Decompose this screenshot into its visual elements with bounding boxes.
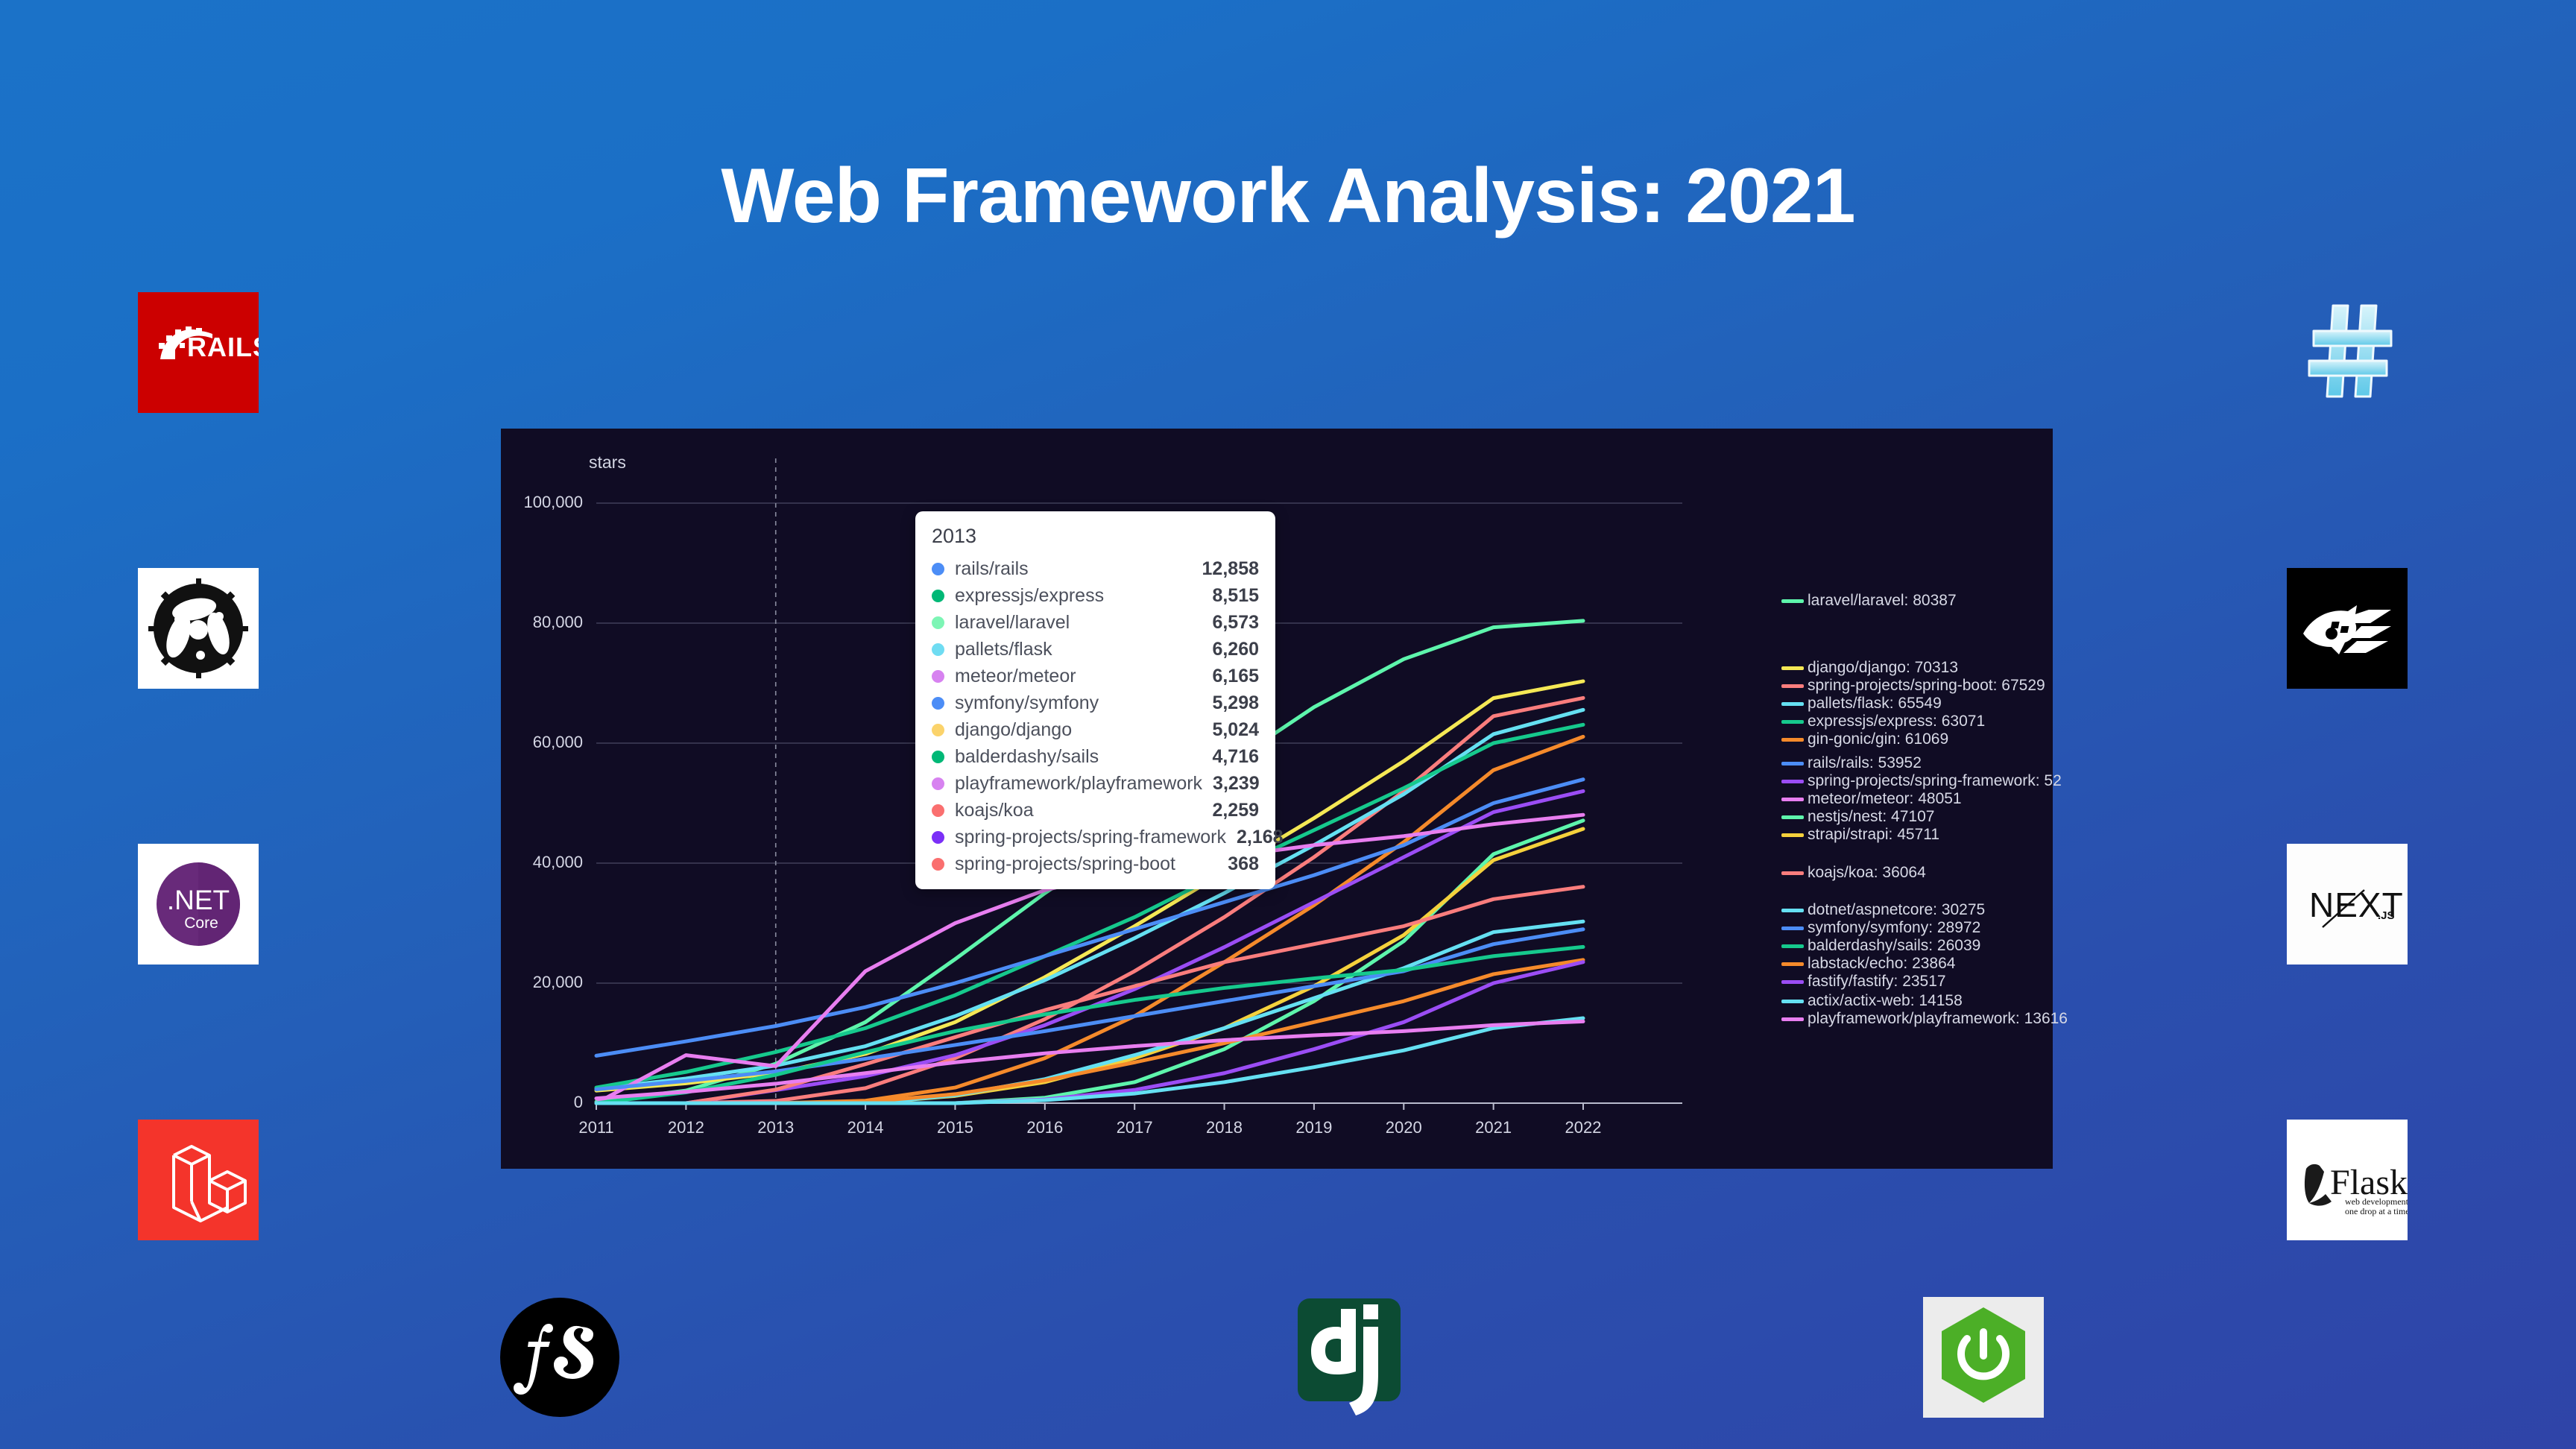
dotnet-core-logo: .NET Core [138,844,259,965]
tooltip-series-value: 2,168 [1237,827,1284,848]
y-axis-tick: 0 [493,1093,583,1112]
tooltip-series-value: 6,165 [1212,666,1259,687]
series-end-label-connector [1781,871,1804,875]
tooltip-series-value: 4,716 [1212,746,1259,768]
series-end-label-connector [1781,980,1804,984]
series-end-label-connector [1781,833,1804,837]
series-end-label: dotnet/aspnetcore: 30275 [1808,902,1985,918]
x-axis-tick: 2012 [648,1118,723,1137]
chart-tooltip[interactable]: 2013 rails/rails12,858expressjs/express8… [915,511,1275,889]
tooltip-series-name: expressjs/express [955,585,1202,607]
tooltip-row: meteor/meteor6,165 [932,663,1259,689]
flask-tagline-line2: one drop at a time [2345,1206,2408,1216]
series-end-label-connector [1781,798,1804,801]
tooltip-row: expressjs/express8,515 [932,582,1259,609]
tooltip-row: balderdashy/sails4,716 [932,743,1259,770]
series-color-dot [932,670,944,683]
x-axis-tick: 2011 [559,1118,634,1137]
series-end-label: spring-projects/spring-framework: 52 [1808,773,2062,789]
slide-root: Web Framework Analysis: 2021 RAILS [0,0,2576,1449]
y-axis-tick: 60,000 [493,733,583,752]
y-axis-tick: 40,000 [493,853,583,872]
x-axis-tick: 2016 [1008,1118,1082,1137]
y-axis-title: stars [589,452,626,473]
series-end-label-connector [1781,926,1804,930]
series-end-label-connector [1781,944,1804,948]
y-axis-tick: 80,000 [493,613,583,632]
x-axis-tick: 2018 [1187,1118,1262,1137]
series-end-label: balderdashy/sails: 26039 [1808,938,1980,953]
tooltip-series-name: meteor/meteor [955,666,1202,687]
series-color-dot [932,777,944,790]
series-end-label: laravel/laravel: 80387 [1808,593,1957,608]
series-end-label-connector [1781,780,1804,783]
flask-tagline-line1: web development, [2345,1196,2408,1207]
svg-text:.JS: .JS [2378,909,2395,922]
tooltip-series-value: 6,260 [1212,639,1259,660]
svg-text:.NET: .NET [167,885,230,915]
series-end-label: strapi/strapi: 45711 [1808,827,1939,842]
series-end-label: koajs/koa: 36064 [1808,865,1926,880]
series-end-label: spring-projects/spring-boot: 67529 [1808,678,2045,693]
series-end-label-connector [1781,1000,1804,1003]
tooltip-series-name: django/django [955,719,1202,741]
x-axis-tick: 2022 [1546,1118,1620,1137]
series-end-label-connector [1781,720,1804,724]
series-end-label: meteor/meteor: 48051 [1808,791,1962,806]
svg-text:RAILS: RAILS [187,332,259,362]
tooltip-series-name: rails/rails [955,558,1192,580]
series-color-dot [932,858,944,871]
page-title: Web Framework Analysis: 2021 [0,154,2576,239]
series-color-dot [932,831,944,844]
series-color-dot [932,724,944,736]
x-axis-tick: 2014 [828,1118,903,1137]
tooltip-series-value: 5,024 [1212,719,1259,741]
series-color-dot [932,643,944,656]
symfony-logo [499,1297,620,1418]
x-axis-tick: 2017 [1097,1118,1172,1137]
series-end-label-connector [1781,738,1804,742]
series-end-label: django/django: 70313 [1808,660,1958,675]
tooltip-series-name: koajs/koa [955,800,1202,821]
django-logo [1289,1297,1409,1418]
series-end-label: expressjs/express: 63071 [1808,713,1985,729]
series-end-label: gin-gonic/gin: 61069 [1808,731,1948,747]
tooltip-row: django/django5,024 [932,716,1259,743]
tooltip-series-name: laravel/laravel [955,612,1202,634]
series-end-label: nestjs/nest: 47107 [1808,809,1934,824]
flask-logo: Flask web development, one drop at a tim… [2287,1120,2408,1240]
spring-boot-logo [1923,1297,2044,1418]
series-color-dot [932,751,944,763]
series-end-label: fastify/fastify: 23517 [1808,973,1946,989]
x-axis-tick: 2019 [1277,1118,1351,1137]
tooltip-series-name: symfony/symfony [955,692,1202,714]
series-end-label-connector [1781,815,1804,819]
laravel-logo [138,1120,259,1240]
y-axis-tick: 20,000 [493,973,583,992]
series-end-label: actix/actix-web: 14158 [1808,993,1963,1008]
series-color-dot [932,590,944,602]
x-axis-tick: 2021 [1456,1118,1531,1137]
x-axis-tick: 2015 [918,1118,992,1137]
series-color-dot [932,616,944,629]
series-end-label: rails/rails: 53952 [1808,755,1922,771]
hashtag-logo [2287,292,2408,413]
tooltip-row: spring-projects/spring-framework2,168 [932,824,1259,850]
tooltip-series-value: 368 [1228,853,1259,875]
tooltip-series-name: pallets/flask [955,639,1202,660]
tooltip-series-value: 5,298 [1212,692,1259,714]
series-end-label-connector [1781,684,1804,688]
tooltip-row: koajs/koa2,259 [932,797,1259,824]
svg-text:Core: Core [184,915,218,932]
tooltip-rows: rails/rails12,858expressjs/express8,515l… [932,555,1259,877]
series-end-label-connector [1781,599,1804,603]
tooltip-series-value: 2,259 [1212,800,1259,821]
tooltip-row: symfony/symfony5,298 [932,689,1259,716]
tooltip-series-name: spring-projects/spring-boot [955,853,1217,875]
series-end-label: symfony/symfony: 28972 [1808,920,1980,935]
nextjs-logo: NEXT .JS [2287,844,2408,965]
gin-gonic-logo [2287,568,2408,689]
series-end-label: labstack/echo: 23864 [1808,956,1955,971]
rails-logo: RAILS [138,292,259,413]
tooltip-series-value: 8,515 [1212,585,1259,607]
tooltip-series-name: spring-projects/spring-framework [955,827,1226,848]
tooltip-series-value: 6,573 [1212,612,1259,634]
series-end-label-connector [1781,1017,1804,1021]
series-end-label-connector [1781,909,1804,912]
tooltip-row: playframework/playframework3,239 [932,770,1259,797]
tooltip-row: rails/rails12,858 [932,555,1259,582]
series-end-label: pallets/flask: 65549 [1808,695,1942,711]
series-end-label-connector [1781,762,1804,765]
tooltip-series-name: balderdashy/sails [955,746,1202,768]
series-end-label-connector [1781,666,1804,670]
series-end-label-connector [1781,962,1804,966]
tooltip-row: spring-projects/spring-boot368 [932,850,1259,877]
tooltip-row: pallets/flask6,260 [932,636,1259,663]
tooltip-series-value: 3,239 [1213,773,1260,795]
tooltip-year: 2013 [932,525,1259,548]
y-axis-tick: 100,000 [493,493,583,512]
sails-logo [138,568,259,689]
series-end-label-connector [1781,702,1804,706]
x-axis-tick: 2020 [1366,1118,1441,1137]
series-end-label: playframework/playframework: 13616 [1808,1011,2068,1026]
series-color-dot [932,804,944,817]
series-color-dot [932,563,944,575]
tooltip-series-value: 12,858 [1202,558,1259,580]
tooltip-series-name: playframework/playframework [955,773,1202,795]
tooltip-row: laravel/laravel6,573 [932,609,1259,636]
x-axis-tick: 2013 [739,1118,813,1137]
series-color-dot [932,697,944,710]
